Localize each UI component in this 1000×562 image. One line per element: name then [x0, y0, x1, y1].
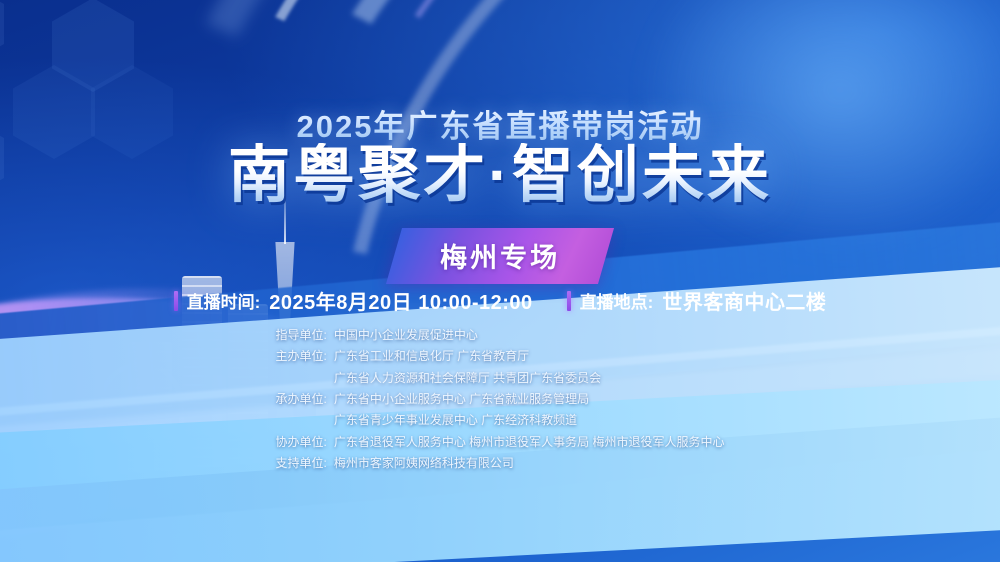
credit-label: 指导单位: — [275, 325, 333, 346]
credit-value: 广东省中小企业服务中心 广东省就业服务管理局 — [334, 389, 725, 410]
credit-label: 协办单位: — [275, 432, 333, 453]
credit-row: 主办单位: 广东省工业和信息化厅 广东省教育厅 — [275, 346, 724, 367]
credit-label: 支持单位: — [275, 453, 333, 474]
credit-value: 中国中小企业发展促进中心 — [334, 325, 725, 346]
event-subtitle: 2025年广东省直播带岗活动 — [0, 101, 1000, 146]
meta-value: 世界客商中心二楼 — [662, 286, 826, 315]
credits-table: 指导单位: 中国中小企业发展促进中心 主办单位: 广东省工业和信息化厅 广东省教… — [275, 325, 724, 475]
event-poster: 2025年广东省直播带岗活动 南粤聚才·智创未来 梅州专场 直播时间: 2025… — [0, 0, 1000, 562]
session-badge: 梅州专场 — [386, 228, 614, 284]
meta-item-location: 直播地点: 世界客商中心二楼 — [567, 286, 827, 315]
credit-value: 梅州市客家阿姨网络科技有限公司 — [334, 453, 725, 474]
credit-label: 主办单位: — [275, 346, 333, 367]
credit-row: 承办单位: 广东省中小企业服务中心 广东省就业服务管理局 — [275, 389, 724, 410]
credit-value: 广东省工业和信息化厅 广东省教育厅 — [334, 346, 725, 367]
badge-container: 梅州专场 — [0, 228, 1000, 284]
meta-label: 直播时间: — [187, 288, 261, 313]
credits-block: 指导单位: 中国中小企业发展促进中心 主办单位: 广东省工业和信息化厅 广东省教… — [0, 325, 1000, 475]
credit-row: 广东省青少年事业发展中心 广东经济科教频道 — [275, 410, 724, 431]
meta-item-time: 直播时间: 2025年8月20日 10:00-12:00 — [174, 286, 533, 315]
accent-bar-icon — [174, 291, 178, 311]
credit-label: 承办单位: — [275, 389, 333, 410]
credit-label — [275, 368, 333, 389]
poster-content: 2025年广东省直播带岗活动 南粤聚才·智创未来 梅州专场 直播时间: 2025… — [0, 0, 1000, 562]
credit-value: 广东省青少年事业发展中心 广东经济科教频道 — [334, 410, 725, 431]
meta-label: 直播地点: — [580, 288, 654, 313]
accent-bar-icon — [567, 291, 571, 311]
event-meta: 直播时间: 2025年8月20日 10:00-12:00 直播地点: 世界客商中… — [0, 286, 1000, 315]
credit-row: 协办单位: 广东省退役军人服务中心 梅州市退役军人事务局 梅州市退役军人服务中心 — [275, 432, 724, 453]
credit-row: 指导单位: 中国中小企业发展促进中心 — [275, 325, 724, 346]
credit-label — [275, 410, 333, 431]
meta-value: 2025年8月20日 10:00-12:00 — [269, 286, 532, 315]
event-headline: 南粤聚才·智创未来 — [0, 143, 1000, 208]
credit-value: 广东省人力资源和社会保障厅 共青团广东省委员会 — [334, 368, 725, 389]
credit-value: 广东省退役军人服务中心 梅州市退役军人事务局 梅州市退役军人服务中心 — [334, 432, 725, 453]
credit-row: 支持单位: 梅州市客家阿姨网络科技有限公司 — [275, 453, 724, 474]
session-badge-label: 梅州专场 — [440, 236, 560, 275]
credit-row: 广东省人力资源和社会保障厅 共青团广东省委员会 — [275, 368, 724, 389]
